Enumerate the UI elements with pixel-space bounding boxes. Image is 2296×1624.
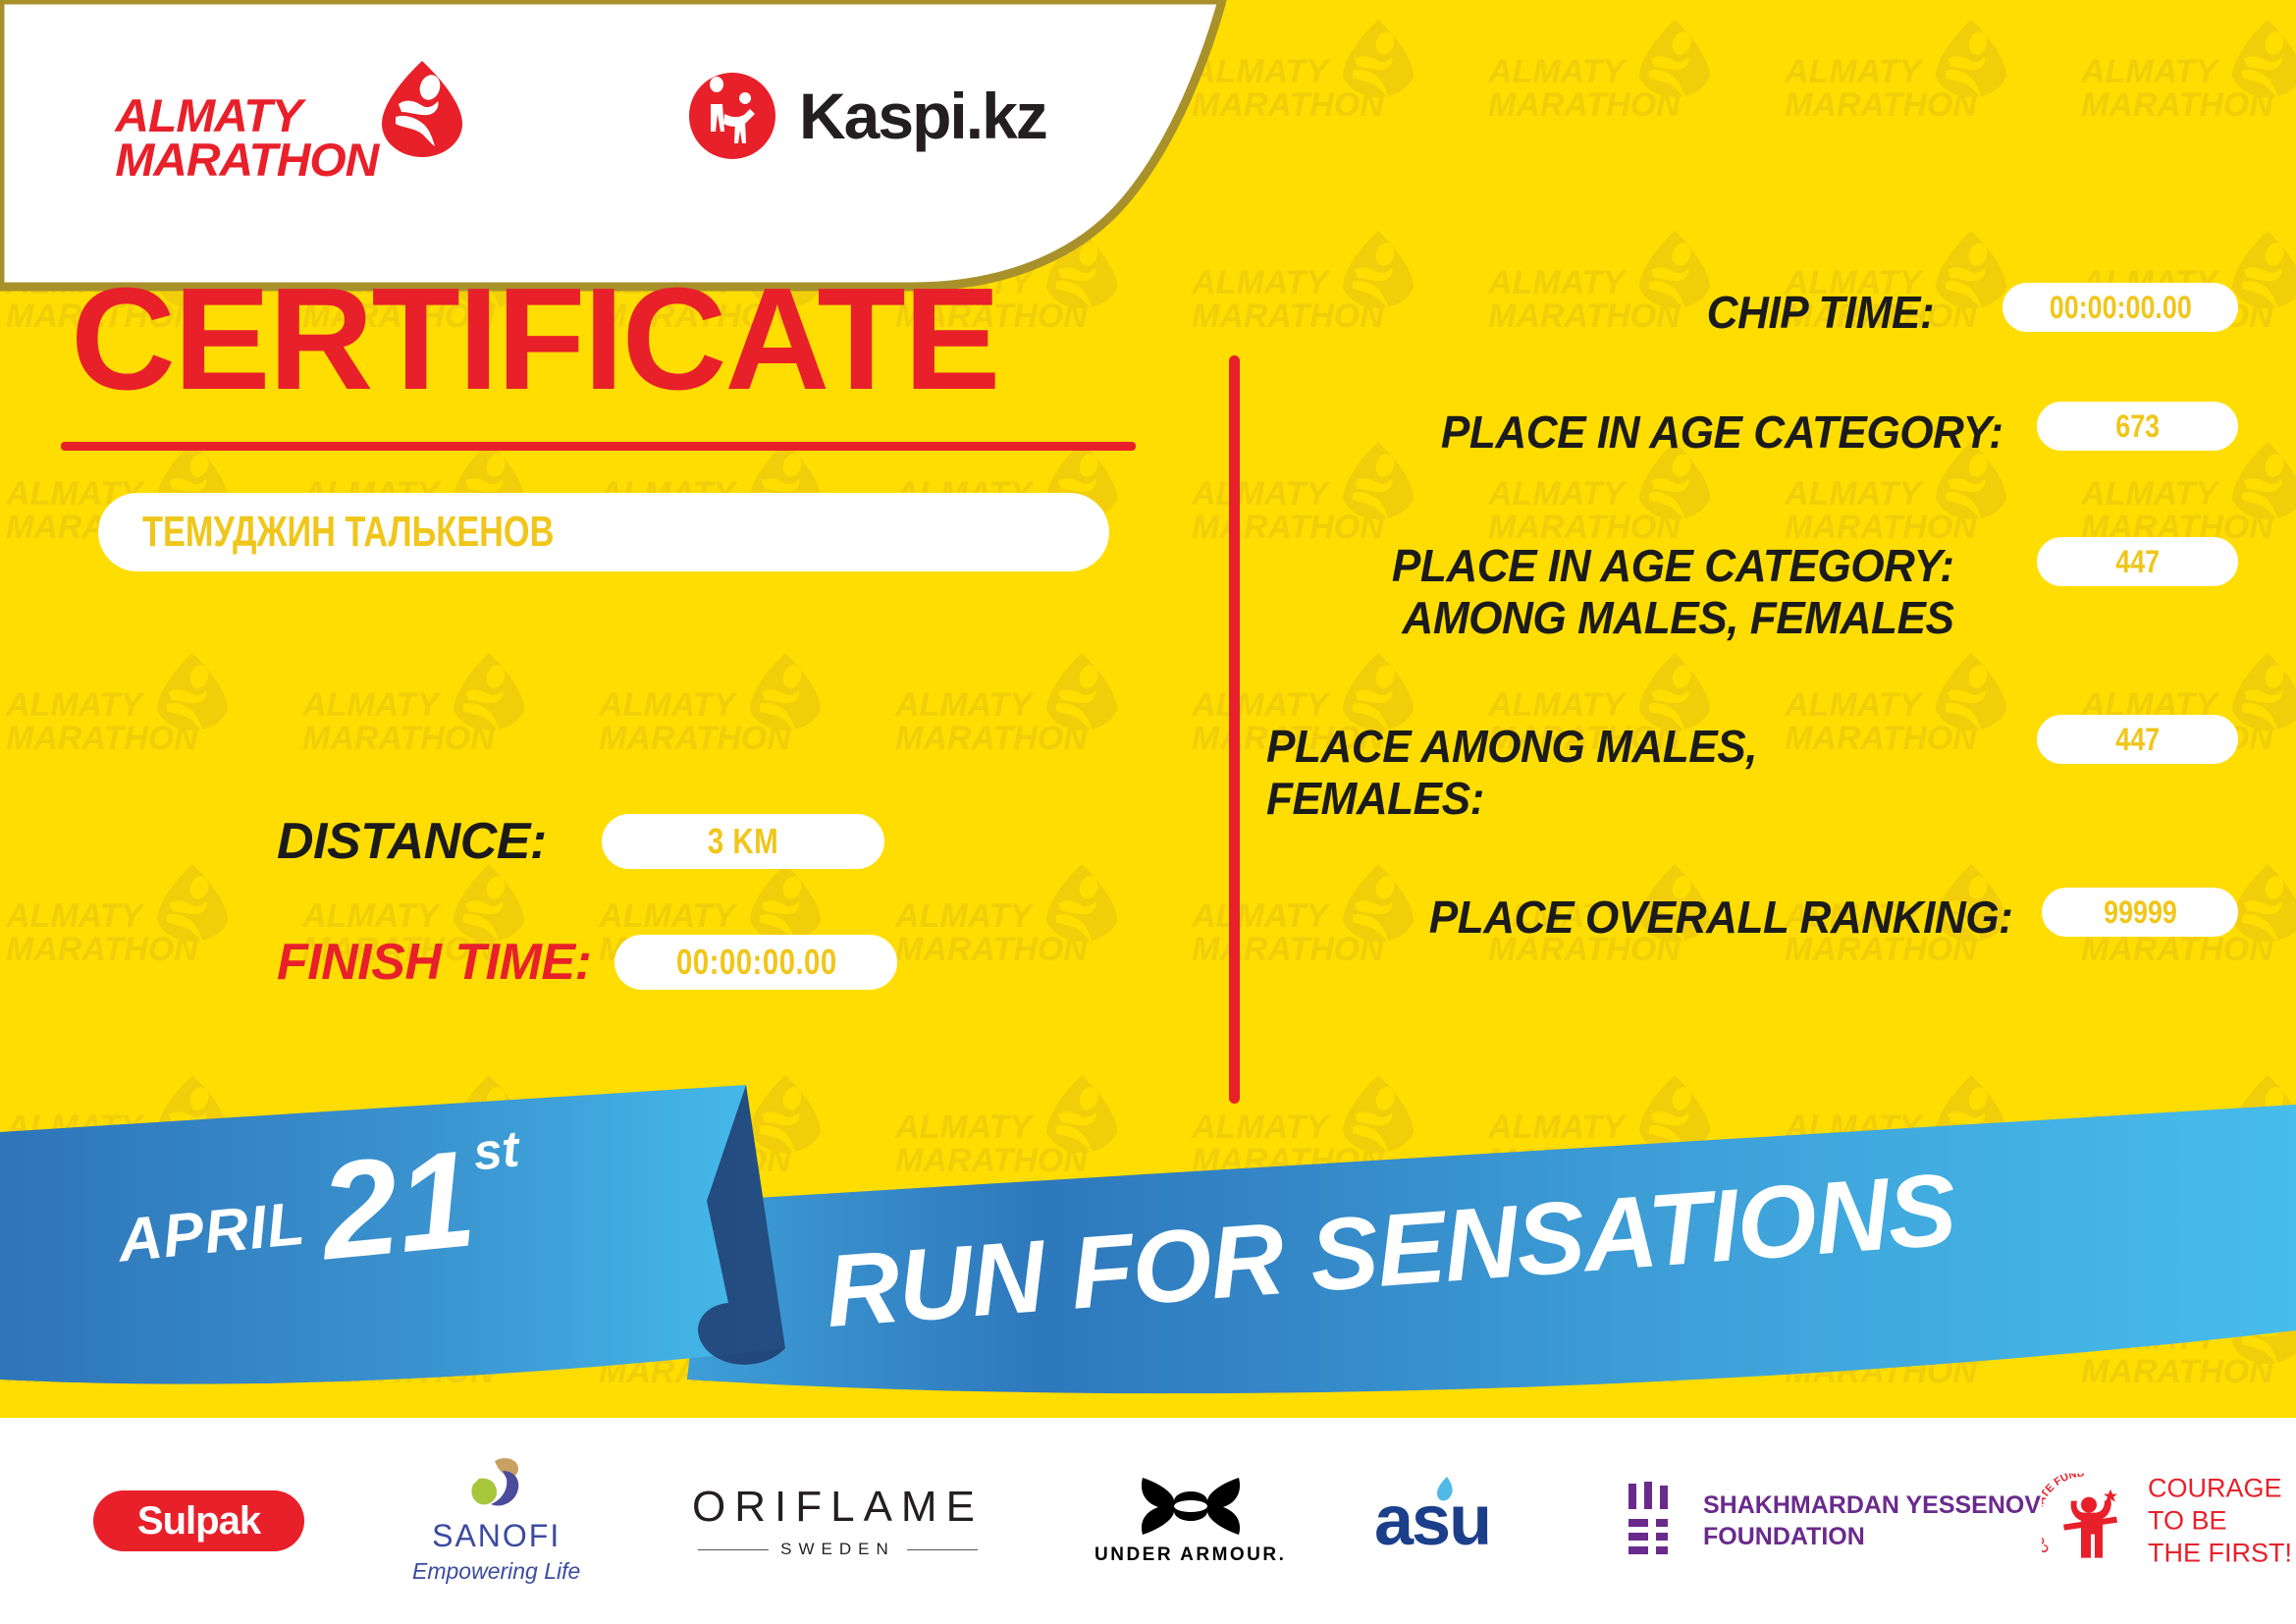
event-day: 21 [316,1139,479,1270]
sponsor-shakhmardan: SHAKHMARDAN YESSENOV FOUNDATION [1625,1482,2041,1560]
place-age-gender-value-field[interactable]: 447 [2037,537,2238,586]
sanofi-tagline: Empowering Life [412,1558,580,1585]
place-age-gender-label: PLACE IN AGE CATEGORY: AMONG MALES, FEMA… [1391,540,1953,645]
shakhmardan-wordmark: SHAKHMARDAN YESSENOV FOUNDATION [1703,1489,2041,1552]
oriflame-wordmark: ORIFLAME [692,1483,984,1532]
oriflame-sub: SWEDEN [692,1540,984,1559]
sponsor-asu: asu [1374,1481,1490,1561]
oriflame-subtext: SWEDEN [780,1540,895,1559]
shakhmardan-line2: FOUNDATION [1703,1521,2041,1552]
sponsor-bar: Sulpak SANOFI Empowering Life ORIFLAME S… [0,1418,2296,1624]
result-row-place-age: PLACE IN AGE CATEGORY: [1266,406,2002,459]
under-armour-wordmark: UNDER ARMOUR. [1095,1544,1286,1566]
corporate-fund-icon: CORPORATE FUND [2042,1474,2136,1568]
chip-time-value: 00:00:00.00 [2050,290,2192,326]
finish-time-value: 00:00:00.00 [676,942,837,983]
page-title: CERTIFICATE [71,267,998,412]
chip-time-value-field[interactable]: 00:00:00.00 [2002,283,2238,332]
runner-drop-icon [382,61,462,157]
distance-value: 3 KM [708,821,778,862]
certificate-page: ALMATY MARATHON Kaspi.kz [0,0,2296,1624]
shakhmardan-mark-icon [1625,1482,1680,1560]
sponsor-sulpak: Sulpak [93,1490,304,1551]
oriflame-rule-left [698,1549,769,1550]
finish-time-value-field[interactable]: 00:00:00.00 [614,935,897,990]
result-row-place-age-gender: PLACE IN AGE CATEGORY: AMONG MALES, FEMA… [1266,540,1953,645]
title-underline [61,442,1136,451]
place-age-value-field[interactable]: 673 [2037,402,2238,451]
asu-text: asu [1374,1482,1490,1560]
asu-drop-icon [1435,1477,1455,1506]
sanofi-wordmark: SANOFI [412,1518,580,1554]
place-gender-value: 447 [2115,722,2160,758]
under-armour-mark-icon [1133,1476,1249,1537]
sponsor-oriflame: ORIFLAME SWEDEN [692,1483,984,1559]
place-gender-value-field[interactable]: 447 [2037,715,2238,764]
sulpak-wordmark: Sulpak [137,1499,260,1543]
participant-name-value: ТЕМУДЖИН ТАЛЬКЕНОВ [142,508,554,557]
distance-label: DISTANCE: [277,812,547,871]
header-logos: ALMATY MARATHON Kaspi.kz [0,0,1306,287]
result-row-chip-time: CHIP TIME: [1266,287,1934,339]
distance-value-field[interactable]: 3 KM [602,814,884,869]
sanofi-mark-icon [461,1457,532,1512]
place-age-value: 673 [2115,408,2160,445]
sponsor-sanofi: SANOFI Empowering Life [412,1457,580,1585]
almaty-logo-line1: ALMATY [115,93,378,138]
shakhmardan-line1: SHAKHMARDAN YESSENOV [1703,1489,2041,1521]
courage-line1: COURAGE [2148,1473,2292,1505]
chip-time-label: CHIP TIME: [1706,287,1934,339]
finish-time-label: FINISH TIME: [277,933,591,992]
sponsor-courage-fund: CORPORATE FUND COURAGE TO BE THE FIRST! [2042,1473,2292,1570]
courage-wordmark: COURAGE TO BE THE FIRST! [2148,1473,2292,1570]
sponsor-under-armour: UNDER ARMOUR. [1095,1476,1286,1566]
kaspi-logo: Kaspi.kz [687,71,1046,161]
finish-time-row: FINISH TIME: 00:00:00.00 [277,933,897,992]
column-divider [1229,355,1240,1104]
participant-name-field[interactable]: ТЕМУДЖИН ТАЛЬКЕНОВ [98,493,1109,571]
asu-wordmark: asu [1374,1481,1490,1561]
place-age-gender-value: 447 [2115,544,2160,580]
sulpak-logo: Sulpak [93,1490,304,1551]
result-row-place-gender: PLACE AMONG MALES, FEMALES: [1266,721,1895,826]
kaspi-wordmark: Kaspi.kz [799,79,1046,153]
kaspi-mark-icon [687,71,777,161]
overall-ranking-label: PLACE OVERALL RANKING: [1428,892,2012,944]
almaty-logo-line2: MARATHON [115,137,378,183]
overall-ranking-value: 99999 [2104,894,2177,931]
place-gender-label: PLACE AMONG MALES, FEMALES: [1266,721,1757,826]
almaty-marathon-logo: ALMATY MARATHON [118,61,462,183]
courage-line2: TO BE [2148,1505,2292,1538]
result-row-overall: PLACE OVERALL RANKING: [1266,892,2012,944]
place-age-label: PLACE IN AGE CATEGORY: [1440,406,2002,459]
event-month: APRIL [115,1189,308,1276]
oriflame-rule-right [907,1549,978,1550]
event-day-ordinal: st [471,1119,522,1182]
courage-line3: THE FIRST! [2148,1537,2292,1569]
distance-row: DISTANCE: 3 KM [277,812,884,871]
overall-ranking-value-field[interactable]: 99999 [2042,888,2238,937]
